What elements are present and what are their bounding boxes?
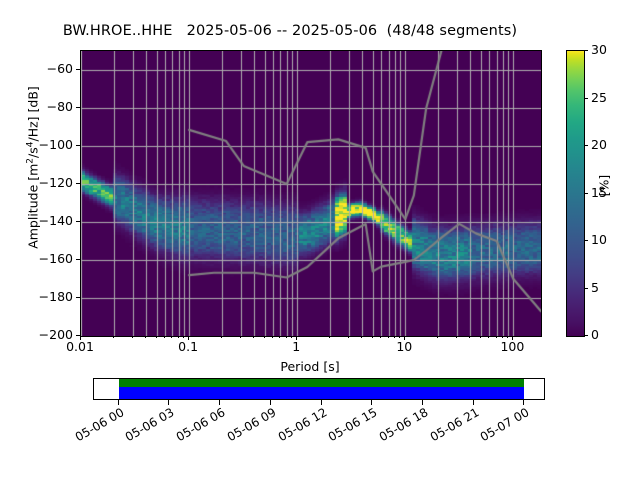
colorbar-tick-label: 30 [591, 44, 607, 56]
x-axis-tick-label: 1 [292, 340, 300, 354]
x-axis-tick-mark-minor [178, 336, 179, 338]
x-axis-tick-label: 0.01 [66, 340, 94, 354]
x-axis-tick-mark-minor [372, 336, 373, 338]
ppsd-plot-area[interactable] [80, 50, 542, 337]
x-axis-tick-label: 0.1 [178, 340, 198, 354]
page-title: BW.HROE..HHE 2025-05-06 -- 2025-05-06 (4… [0, 22, 580, 40]
x-axis-tick-mark-minor [488, 336, 489, 338]
colorbar-tick-mark [584, 288, 588, 289]
x-axis-tick-mark-minor [469, 336, 470, 338]
colorbar-tick-mark [584, 193, 588, 194]
x-axis-tick-label: 100 [500, 340, 524, 354]
colorbar-tick-mark [584, 240, 588, 241]
ppsd-figure: BW.HROE..HHE 2025-05-06 -- 2025-05-06 (4… [0, 0, 640, 480]
x-axis-tick-mark-minor [264, 336, 265, 338]
y-axis-tick-marks [0, 50, 80, 335]
colorbar-tick-mark [584, 145, 588, 146]
x-axis-tick-mark-minor [394, 336, 395, 338]
x-axis-label: Period [s] [80, 359, 540, 374]
x-axis-tick-mark-minor [361, 336, 362, 338]
x-axis-tick-label: 10 [396, 340, 412, 354]
x-axis-tick-mark-minor [132, 336, 133, 338]
x-axis-tick-mark-minor [272, 336, 273, 338]
coverage-tick-label: 05-06 06 [166, 406, 228, 449]
x-axis-tick-mark-minor [286, 336, 287, 338]
x-axis-tick-mark-minor [171, 336, 172, 338]
x-axis-tick-mark-minor [456, 336, 457, 338]
colorbar-tick-mark [584, 50, 588, 51]
x-axis-tick-mark-minor [156, 336, 157, 338]
x-axis-tick-mark-minor [437, 336, 438, 338]
colorbar-tick-mark [584, 98, 588, 99]
colorbar-label: [%] [597, 166, 612, 206]
colorbar-tick-label: 20 [591, 139, 607, 151]
x-axis-tick-mark-minor [279, 336, 280, 338]
x-axis-tick-mark-minor [507, 336, 508, 338]
x-axis-tick-mark-minor [221, 336, 222, 338]
colorbar-tick-label: 5 [591, 282, 599, 294]
colorbar-tick-label: 10 [591, 234, 607, 246]
x-axis-tick-mark-minor [145, 336, 146, 338]
coverage-tick-label: 05-06 18 [369, 406, 431, 449]
data-coverage-bar[interactable] [93, 378, 545, 400]
x-axis-tick-mark-minor [253, 336, 254, 338]
colorbar-tick-label: 0 [591, 329, 599, 341]
colorbar-tick-label: 25 [591, 92, 607, 104]
coverage-tick-labels: 05-06 0005-06 0305-06 0605-06 0905-06 12… [0, 404, 640, 474]
x-axis-tick-labels: 0.010.1110100 [80, 340, 540, 360]
x-axis-tick-mark-minor [240, 336, 241, 338]
x-axis-tick-mark-minor [399, 336, 400, 338]
x-axis-tick-mark-minor [502, 336, 503, 338]
ppsd-density-heatmap [81, 51, 541, 336]
x-axis-tick-mark-minor [113, 336, 114, 338]
coverage-blue-band [119, 387, 524, 399]
colorbar-tick-mark [584, 335, 588, 336]
x-axis-tick-mark-minor [183, 336, 184, 338]
x-axis-tick-mark-minor [388, 336, 389, 338]
x-axis-tick-mark-minor [496, 336, 497, 338]
x-axis-tick-mark-minor [329, 336, 330, 338]
x-axis-tick-mark-minor [348, 336, 349, 338]
x-axis-tick-mark-minor [291, 336, 292, 338]
x-axis-tick-mark-minor [380, 336, 381, 338]
x-axis-tick-mark-minor [164, 336, 165, 338]
coverage-green-band [119, 379, 524, 387]
x-axis-tick-mark-minor [480, 336, 481, 338]
